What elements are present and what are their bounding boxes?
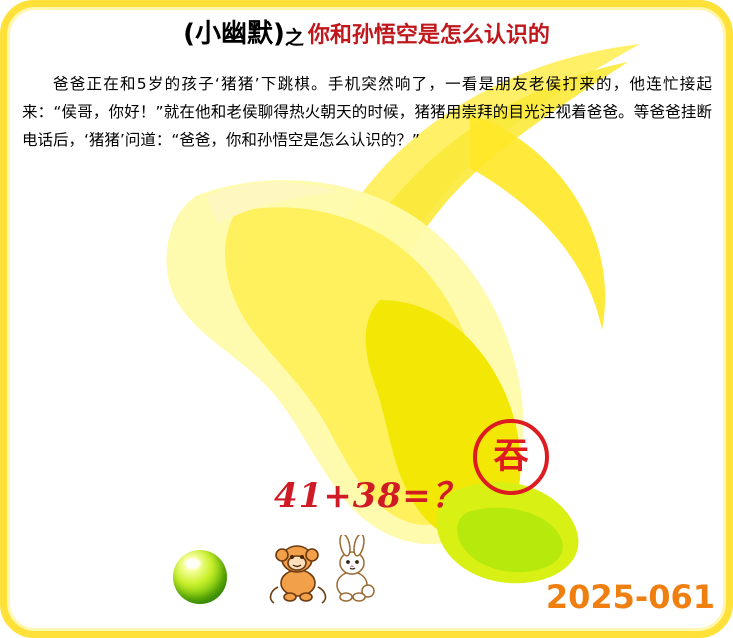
story-paragraph: 爸爸正在和5岁的孩子‘猪猪’下跳棋。手机突然响了，一看是朋友老侯打来的，他连忙接…	[22, 70, 712, 154]
headline-title: 你和孙悟空是怎么认识的	[308, 23, 550, 48]
poster-canvas: (小幽默)之你和孙悟空是怎么认识的 爸爸正在和5岁的孩子‘猪猪’下跳棋。手机突然…	[0, 0, 733, 638]
monkey-and-rabbit-icon	[264, 535, 384, 605]
headline: (小幽默)之你和孙悟空是怎么认识的	[0, 13, 733, 50]
headline-prefix: (小幽默)	[183, 19, 285, 49]
headline-connector: 之	[285, 27, 304, 49]
red-circle-stamp: 吞	[473, 419, 549, 495]
issue-code: 2025-061	[546, 578, 715, 616]
stamp-character: 吞	[493, 440, 528, 475]
glossy-ball-icon	[173, 550, 227, 604]
quiz-expression: 41+38=？	[274, 468, 467, 517]
